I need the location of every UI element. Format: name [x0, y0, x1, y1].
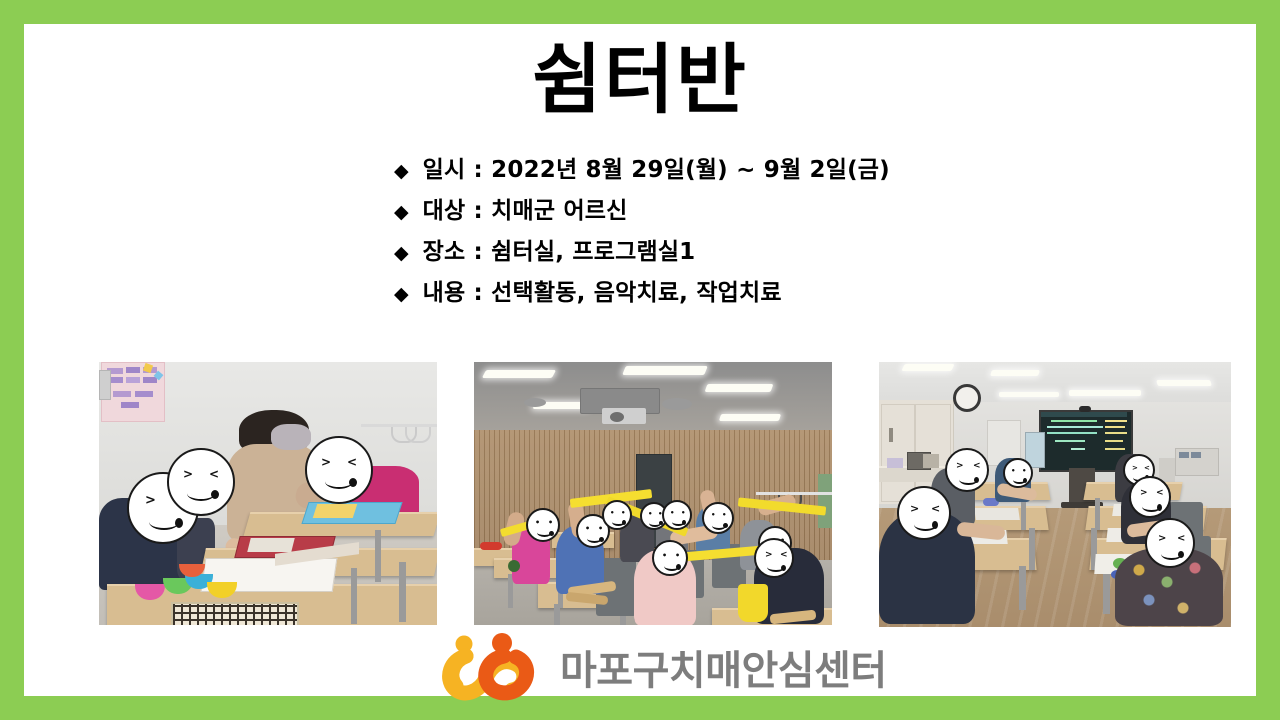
page-title: 쉼터반: [24, 42, 1256, 118]
face-sticker: • •: [652, 540, 688, 576]
face-sticker: > <: [754, 538, 794, 578]
face-sticker: > <: [1145, 518, 1195, 568]
face-sticker: • •: [602, 500, 632, 530]
face-sticker: • •: [1003, 458, 1033, 488]
face-sticker: • •: [702, 502, 734, 534]
detail-target: 대상 : 치매군 어르신: [423, 191, 628, 225]
diamond-bullet-icon: ◆: [394, 162, 409, 181]
photo-activity-puzzle: > < > < > <: [99, 362, 437, 625]
list-item: ◆ 일시 : 2022년 8월 29일(월) ~ 9월 2일(금): [394, 150, 1214, 191]
face-sticker: > <: [305, 436, 373, 504]
face-sticker: > <: [1129, 476, 1171, 518]
photo-activity-band-exercise: • • • • • • •: [474, 362, 832, 625]
diamond-bullet-icon: ◆: [394, 244, 409, 263]
logo-mark-icon: [442, 632, 546, 702]
photo-activity-craft: > < • • > < >: [879, 362, 1231, 627]
slide-green-border: 쉼터반 ◆ 일시 : 2022년 8월 29일(월) ~ 9월 2일(금) ◆ …: [0, 0, 1280, 720]
detail-date: 일시 : 2022년 8월 29일(월) ~ 9월 2일(금): [423, 150, 890, 184]
list-item: ◆ 내용 : 선택활동, 음악치료, 작업치료: [394, 273, 1214, 314]
organization-logo: 마포구치매안심센터: [442, 632, 887, 702]
diamond-bullet-icon: ◆: [394, 285, 409, 304]
face-sticker: • •: [526, 508, 560, 542]
logo-text: 마포구치매안심센터: [560, 638, 887, 696]
diamond-bullet-icon: ◆: [394, 203, 409, 222]
detail-location: 장소 : 쉼터실, 프로그램실1: [423, 232, 696, 266]
detail-content: 내용 : 선택활동, 음악치료, 작업치료: [423, 273, 782, 307]
face-sticker: • •: [662, 500, 692, 530]
face-sticker: > <: [167, 448, 235, 516]
list-item: ◆ 대상 : 치매군 어르신: [394, 191, 1214, 232]
list-item: ◆ 장소 : 쉼터실, 프로그램실1: [394, 232, 1214, 273]
detail-list: ◆ 일시 : 2022년 8월 29일(월) ~ 9월 2일(금) ◆ 대상 :…: [394, 150, 1214, 314]
face-sticker: > <: [897, 486, 951, 540]
slide-content-area: 쉼터반 ◆ 일시 : 2022년 8월 29일(월) ~ 9월 2일(금) ◆ …: [24, 24, 1256, 696]
face-sticker: > <: [945, 448, 989, 492]
